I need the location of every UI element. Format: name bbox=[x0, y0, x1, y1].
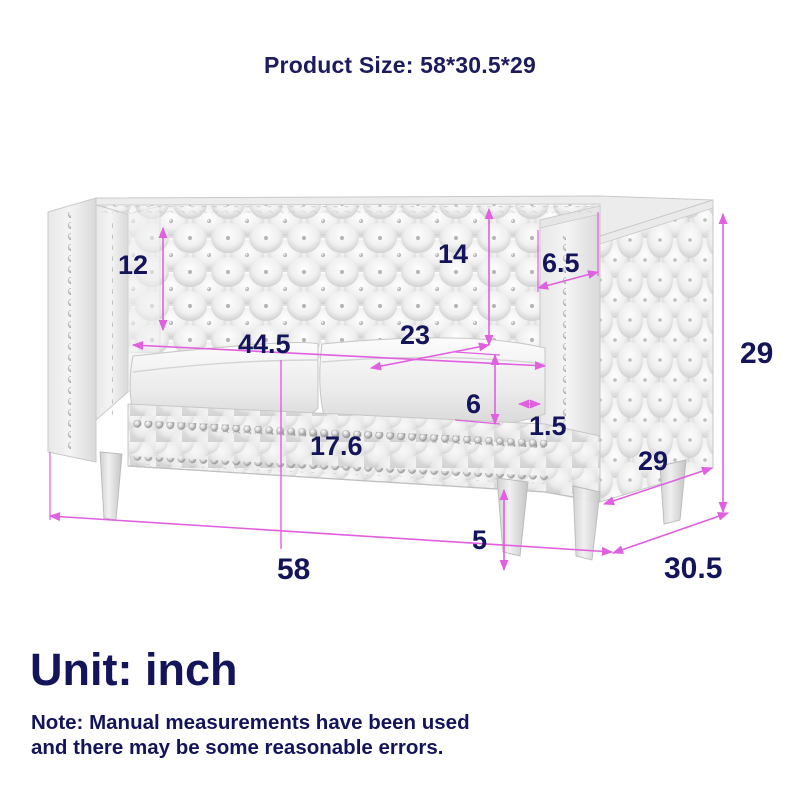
dim-label-overall-height: 29 bbox=[740, 337, 773, 371]
dim-label-cushion-thickness: 6 bbox=[466, 389, 481, 420]
diagram-canvas: Product Size: 58*30.5*29 bbox=[0, 0, 800, 800]
dim-label-arm-width: 6.5 bbox=[542, 248, 580, 279]
sofa-outer-back-left bbox=[48, 198, 96, 462]
dim-label-gap-thickness: 1.5 bbox=[529, 411, 567, 442]
unit-label: Unit: inch bbox=[30, 644, 237, 696]
dim-label-seat-height: 17.6 bbox=[310, 431, 363, 462]
dimline-58 bbox=[50, 516, 612, 552]
dim-label-seat-width: 44.5 bbox=[238, 329, 291, 360]
dim-label-side-depth: 29 bbox=[638, 446, 668, 477]
dim-label-overall-depth: 30.5 bbox=[664, 552, 722, 586]
dim-label-seat-depth: 23 bbox=[400, 320, 430, 351]
measurement-note: Note: Manual measurements have been used… bbox=[31, 710, 470, 760]
dim-label-back-cushion-height: 12 bbox=[118, 250, 148, 281]
sofa-back-inner-tufted bbox=[96, 204, 600, 364]
dim-label-overall-width: 58 bbox=[277, 553, 310, 587]
dim-label-back-height-inner: 14 bbox=[438, 239, 468, 270]
dim-label-leg-height: 5 bbox=[472, 525, 487, 556]
